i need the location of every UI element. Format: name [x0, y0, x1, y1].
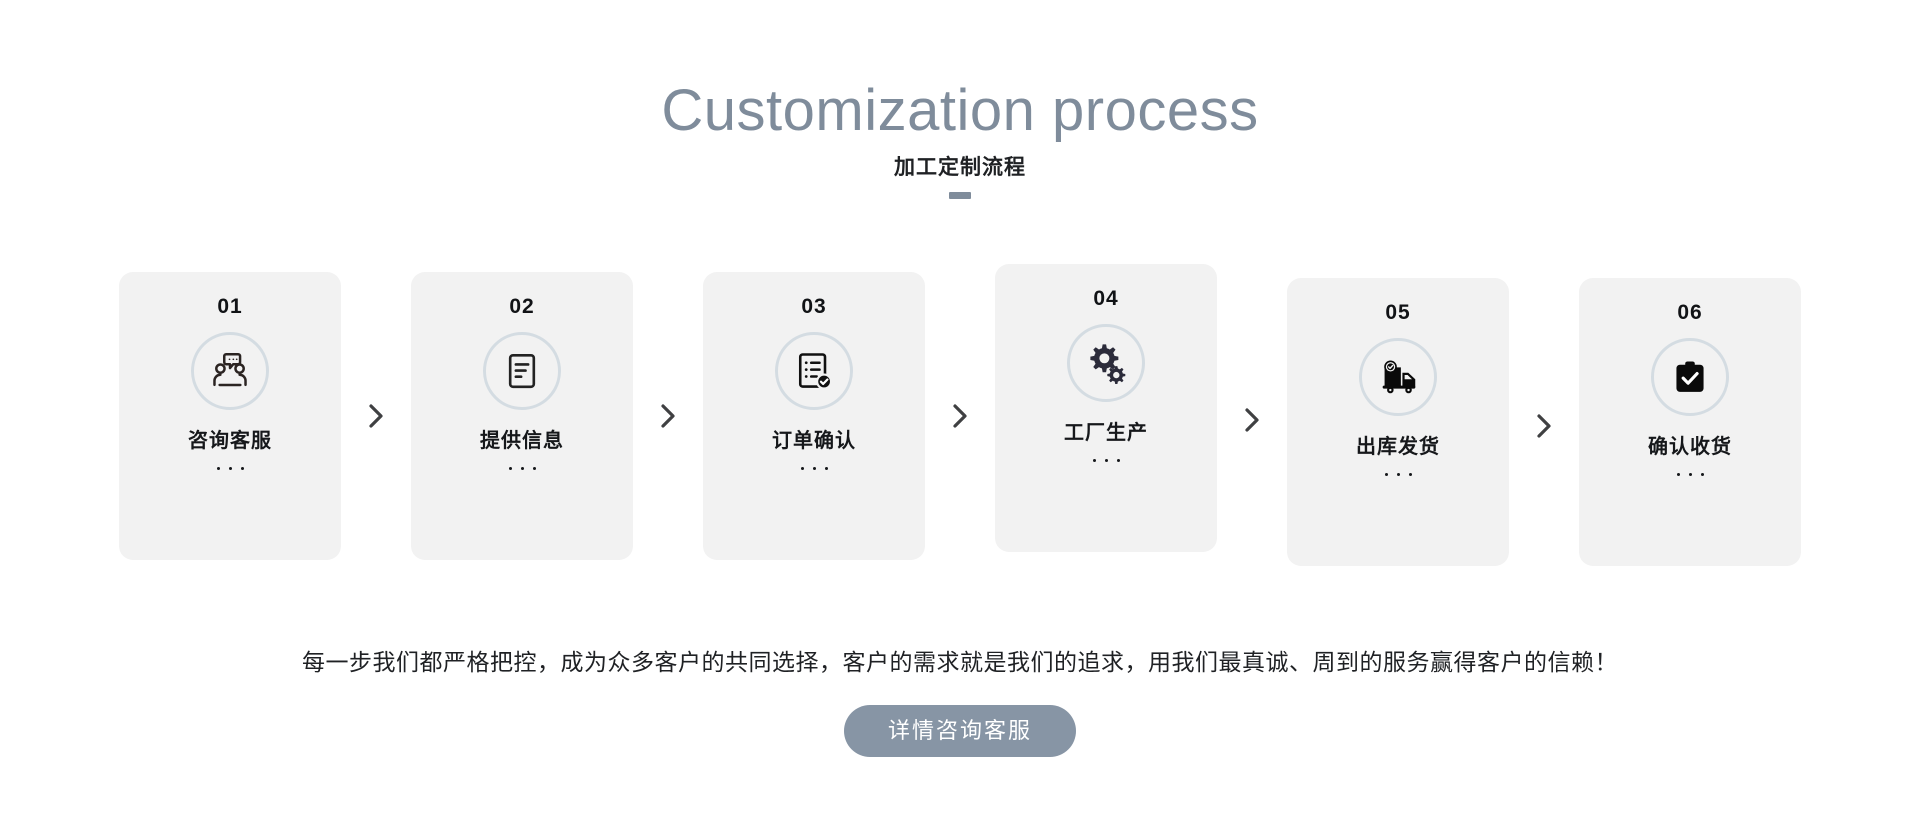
section-footer: 每一步我们都严格把控，成为众多客户的共同选择，客户的需求就是我们的追求，用我们最…: [0, 645, 1920, 757]
process-step-card[interactable]: 03 订单确认: [703, 272, 925, 560]
process-step-card[interactable]: 01 咨询客服: [119, 272, 341, 560]
chevron-right-icon: [1536, 413, 1552, 439]
step-label: 提供信息: [480, 428, 564, 454]
step-label: 出库发货: [1356, 434, 1440, 460]
step-number: 01: [217, 294, 242, 320]
consult-support-button[interactable]: 详情咨询客服: [844, 705, 1076, 757]
step-label: 工厂生产: [1064, 420, 1148, 446]
step-separator: [1509, 282, 1579, 570]
step-dots: [1385, 466, 1412, 482]
gears-production-icon: [1067, 324, 1145, 402]
footer-description: 每一步我们都严格把控，成为众多客户的共同选择，客户的需求就是我们的追求，用我们最…: [0, 645, 1920, 679]
step-dots: [801, 460, 828, 476]
chevron-right-icon: [660, 403, 676, 429]
step-separator: [341, 272, 411, 560]
step-separator: [925, 272, 995, 560]
step-number: 03: [801, 294, 826, 320]
step-separator: [1217, 276, 1287, 564]
title-divider: [949, 192, 971, 199]
step-number: 02: [509, 294, 534, 320]
page-title-en: Customization process: [0, 78, 1920, 144]
process-steps-row: 01 咨询客服: [0, 250, 1920, 580]
step-label: 订单确认: [772, 428, 856, 454]
delivery-truck-check-icon: [1359, 338, 1437, 416]
process-step-card[interactable]: 04 工厂生产: [995, 264, 1217, 552]
chevron-right-icon: [952, 403, 968, 429]
step-label: 确认收货: [1648, 434, 1732, 460]
section-header: Customization process 加工定制流程: [0, 78, 1920, 199]
step-number: 04: [1093, 286, 1118, 312]
step-dots: [509, 460, 536, 476]
clipboard-check-icon: [1651, 338, 1729, 416]
step-label: 咨询客服: [188, 428, 272, 454]
step-dots: [1677, 466, 1704, 482]
process-step-card[interactable]: 06 确认收货: [1579, 278, 1801, 566]
step-number: 06: [1677, 300, 1702, 326]
step-separator: [633, 272, 703, 560]
chevron-right-icon: [368, 403, 384, 429]
step-dots: [1093, 452, 1120, 468]
process-step-card[interactable]: 05 出库发货: [1287, 278, 1509, 566]
customization-process-section: Customization process 加工定制流程 01: [0, 0, 1920, 818]
order-checklist-check-icon: [775, 332, 853, 410]
step-dots: [217, 460, 244, 476]
step-number: 05: [1385, 300, 1410, 326]
process-step-card[interactable]: 02 提供信息: [411, 272, 633, 560]
page-subtitle-cn: 加工定制流程: [0, 154, 1920, 182]
consult-support-icon: [191, 332, 269, 410]
chevron-right-icon: [1244, 407, 1260, 433]
document-info-icon: [483, 332, 561, 410]
